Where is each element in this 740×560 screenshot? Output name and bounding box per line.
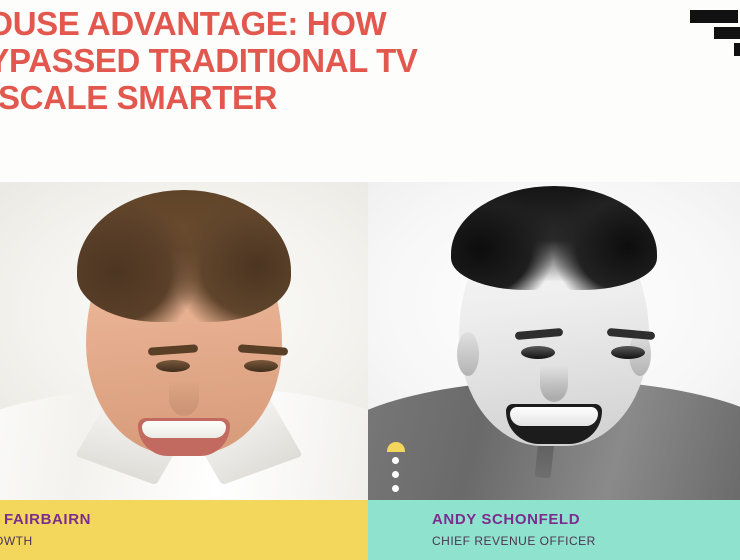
eyebrow-left [148, 344, 198, 355]
marker-dot [392, 471, 399, 478]
speaker-photo-right [368, 182, 740, 500]
eye-right [244, 360, 278, 372]
mouth [138, 418, 230, 456]
marker-dot [392, 485, 399, 492]
speaker-card-left: FAIRBAIRN OWTH [0, 500, 368, 560]
marker-dome [387, 442, 405, 452]
slide-canvas: HOUSE ADVANTAGE: HOW BYPASSED TRADITIONA… [0, 0, 740, 560]
speaker-photo-left [0, 182, 368, 500]
speaker-photos [0, 182, 740, 500]
title-line-2: BYPASSED TRADITIONAL TV [0, 42, 740, 79]
title-line-1: HOUSE ADVANTAGE: HOW [0, 5, 740, 42]
speaker-name-bars: FAIRBAIRN OWTH ANDY SCHONFELD CHIEF REVE… [0, 500, 740, 560]
teeth [142, 421, 226, 438]
eye-left [156, 360, 190, 372]
page-title: HOUSE ADVANTAGE: HOW BYPASSED TRADITIONA… [0, 5, 740, 116]
speaker-role: OWTH [0, 533, 368, 549]
eyebrow-left [515, 328, 564, 340]
logo-bar-middle [714, 27, 740, 39]
nose [169, 380, 199, 416]
mouth [506, 404, 602, 444]
teeth [510, 407, 598, 426]
marker-dot [392, 457, 399, 464]
eyebrow-right [238, 344, 288, 355]
logo-bar-bottom [734, 43, 740, 56]
speaker-role: CHIEF REVENUE OFFICER [432, 533, 740, 549]
brand-logo-icon [686, 8, 740, 56]
nose [540, 366, 568, 402]
title-line-3: O SCALE SMARTER [0, 79, 740, 116]
logo-bar-top [690, 10, 738, 23]
ear-left [457, 332, 479, 376]
eye-right [611, 346, 645, 359]
speaker-name: ANDY SCHONFELD [432, 511, 740, 529]
speaker-card-right: ANDY SCHONFELD CHIEF REVENUE OFFICER [368, 500, 740, 560]
dotted-marker-icon [387, 442, 407, 494]
speaker-name: FAIRBAIRN [4, 511, 368, 529]
eye-left [521, 346, 555, 359]
